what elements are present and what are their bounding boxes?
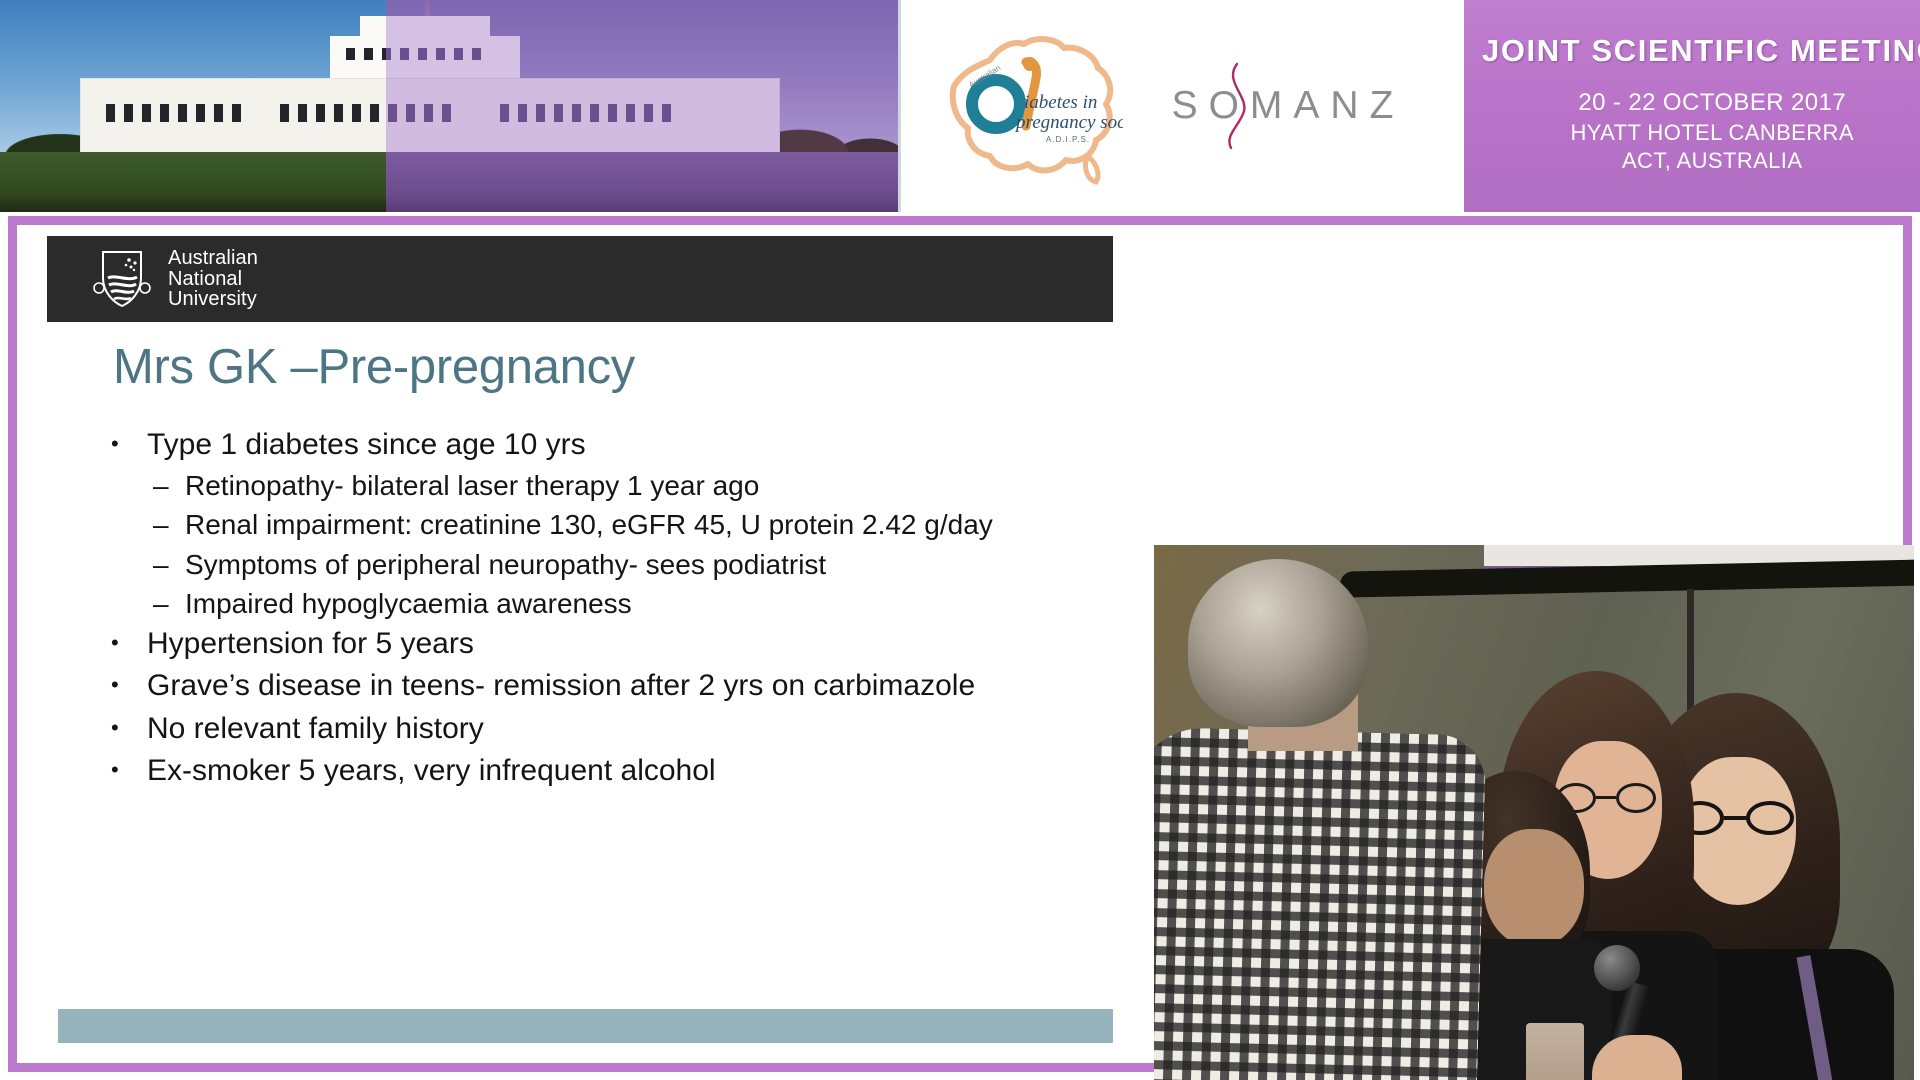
parliament-house-upper-block [360,16,386,36]
anu-line-3: University [168,289,258,310]
anu-crest-icon [93,248,151,310]
conference-title: JOINT SCIENTIFIC MEETING [1482,33,1920,69]
bullet-marker: • [105,624,147,664]
bullet-text: Ex-smoker 5 years, very infrequent alcoh… [147,751,1095,791]
bullet-item-level-2: –Renal impairment: creatinine 130, eGFR … [105,506,1095,543]
somanz-logo: SOMANZ [1153,66,1423,146]
conference-location: ACT, AUSTRALIA [1482,148,1920,174]
adips-line2: pregnancy society [1014,112,1123,133]
somanz-wordmark: SOMANZ [1172,84,1405,128]
bullet-marker: – [153,546,185,583]
microphone-icon [1594,945,1640,991]
conference-banner: iabetes in pregnancy society A.D.I.P.S. … [0,0,1920,212]
slide-bullet-list: •Type 1 diabetes since age 10 yrs–Retino… [105,425,1095,793]
anu-wordmark: Australian National University [168,248,258,310]
bullet-marker: – [153,467,185,504]
anu-line-2: National [168,269,258,290]
slide-accent-bar [58,1009,1113,1043]
anu-logo-bar: Australian National University [47,236,1113,322]
somanz-curve-icon [1217,62,1257,150]
slide-title: Mrs GK –Pre-pregnancy [113,339,635,395]
audience-member-foreground [1154,721,1488,1080]
treeline-tinted [386,110,898,156]
banner-logos: iabetes in pregnancy society A.D.I.P.S. … [898,0,1460,212]
bullet-item-level-1: •Type 1 diabetes since age 10 yrs [105,425,1095,465]
bullet-item-level-1: •Hypertension for 5 years [105,624,1095,664]
bullet-marker: • [105,709,147,749]
bullet-item-level-2: –Impaired hypoglycaemia awareness [105,585,1095,622]
bullet-item-level-1: •Grave’s disease in teens- remission aft… [105,666,1095,706]
slide-frame: Australian National University Mrs GK –P… [8,216,1912,1072]
bullet-text: Impaired hypoglycaemia awareness [185,585,1095,622]
anu-line-1: Australian [168,248,258,269]
lawn-tinted [386,152,898,212]
bullet-item-level-2: –Retinopathy- bilateral laser therapy 1 … [105,467,1095,504]
bullet-text: Grave’s disease in teens- remission afte… [147,666,1095,706]
banner-photo-natural-half [0,0,386,212]
sky-tinted [386,0,898,152]
parliament-house-banner-photo [0,0,898,212]
presentation-slide: Australian National University Mrs GK –P… [17,225,1903,1063]
bullet-text: Retinopathy- bilateral laser therapy 1 y… [185,467,1095,504]
conference-details-panel: JOINT SCIENTIFIC MEETING 20 - 22 OCTOBER… [1460,0,1920,212]
bullet-marker: • [105,751,147,791]
conference-venue: HYATT HOTEL CANBERRA [1482,120,1920,146]
water-glass [1526,1023,1584,1080]
parliament-house-building [80,78,386,156]
parliament-house-centre-block [330,36,386,78]
checked-shirt [1154,726,1486,1080]
bullet-text: Renal impairment: creatinine 130, eGFR 4… [185,506,1095,543]
adips-logo-svg: iabetes in pregnancy society A.D.I.P.S. … [938,26,1123,186]
bullet-marker: • [105,425,147,465]
bullet-item-level-1: •Ex-smoker 5 years, very infrequent alco… [105,751,1095,791]
bullet-text: Hypertension for 5 years [147,624,1095,664]
grey-hair [1188,559,1368,727]
bullet-text: Type 1 diabetes since age 10 yrs [147,425,1095,465]
parliament-house-building-tinted [386,78,780,156]
conference-dates: 20 - 22 OCTOBER 2017 [1482,89,1920,117]
bullet-text: No relevant family history [147,709,1095,749]
bullet-marker: – [153,585,185,622]
bullet-marker: – [153,506,185,543]
banner-photo-purple-tinted-half [386,0,898,212]
bullet-marker: • [105,666,147,706]
adips-line1: iabetes in [1024,92,1097,113]
lawn [0,152,386,212]
screenshot-root: iabetes in pregnancy society A.D.I.P.S. … [0,0,1920,1080]
parliament-house-upper-block-tinted [386,16,490,36]
flagpole-tinted [425,0,430,16]
parliament-house-centre-block-tinted [386,36,520,78]
bullet-text: Symptoms of peripheral neuropathy- sees … [185,546,1095,583]
conference-panel-photo [1154,545,1914,1080]
adips-logo: iabetes in pregnancy society A.D.I.P.S. … [938,26,1123,186]
bullet-item-level-1: •No relevant family history [105,709,1095,749]
bullet-item-level-2: –Symptoms of peripheral neuropathy- sees… [105,546,1095,583]
adips-acronym: A.D.I.P.S. [1046,135,1090,144]
